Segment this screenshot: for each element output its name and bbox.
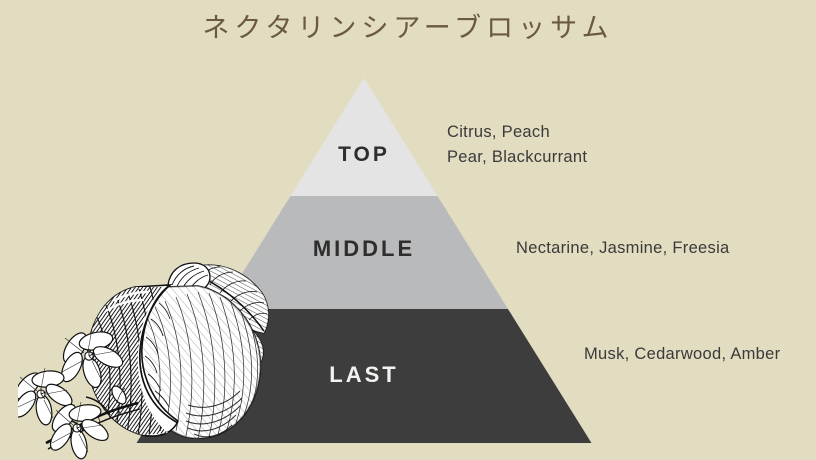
fragrance-pyramid-canvas: ネクタリンシアーブロッサム TOP MIDDLE LAST Citrus, Pe… [0, 0, 816, 460]
note-description-last: Musk, Cedarwood, Amber [584, 342, 780, 367]
note-description-middle: Nectarine, Jasmine, Freesia [516, 236, 730, 261]
jasmine-blossom-lower [46, 400, 111, 460]
illustration-artwork [18, 255, 286, 460]
note-description-top: Citrus, Peach Pear, Blackcurrant [447, 120, 587, 170]
pyramid-tier-top-shape[interactable] [291, 78, 438, 196]
nectarine-and-blossom-illustration [18, 255, 286, 460]
